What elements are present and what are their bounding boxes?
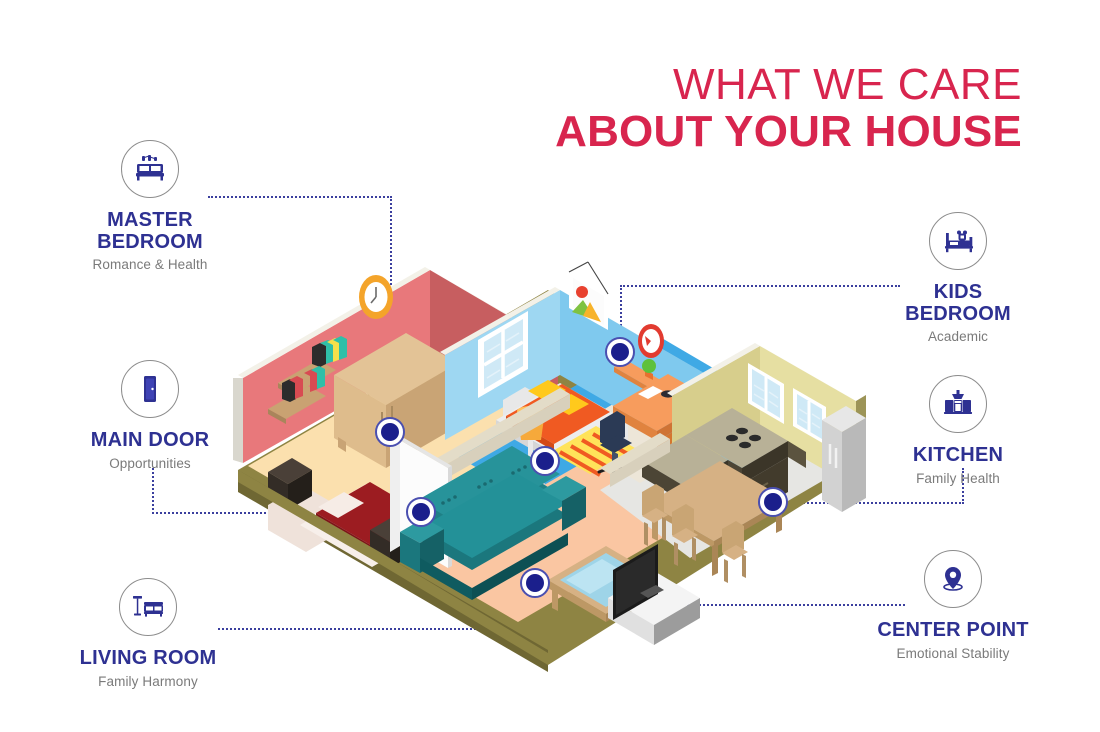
marker-master-bedroom[interactable] [375,417,405,447]
callout-subtitle: Family Harmony [28,674,268,689]
marker-dot [536,452,554,470]
callout-kitchen[interactable]: KITCHEN Family Health [838,375,1078,486]
callout-living-room[interactable]: LIVING ROOM Family Harmony [28,578,268,689]
marker-dot [611,343,629,361]
callout-kids-bedroom[interactable]: KIDS BEDROOM Academic [838,212,1078,344]
marker-kids-bedroom[interactable] [605,337,635,367]
main-door-frame [390,436,400,552]
stove-hood-icon [941,387,975,421]
kids-bed-teddy-icon [940,224,976,258]
callout-master-bedroom[interactable]: MASTER BEDROOM Romance & Health [30,140,270,272]
callout-subtitle: Emotional Stability [833,646,1073,661]
callout-title: KITCHEN [838,445,1078,467]
coffee-table-leg-1 [552,586,558,611]
dining-table-leg-2 [712,543,718,576]
callout-title: CENTER POINT [833,620,1073,642]
callout-subtitle: Romance & Health [30,257,270,272]
kids-bedroom-badge [929,212,987,270]
callout-title: MASTER BEDROOM [30,210,270,253]
callout-subtitle: Family Health [838,471,1078,486]
plant-leaf-kids [642,359,656,373]
callout-center-point[interactable]: CENTER POINT Emotional Stability [833,550,1073,661]
kitchen-badge [929,375,987,433]
living-room-badge [119,578,177,636]
callout-subtitle: Opportunities [30,456,270,471]
callout-title: MAIN DOOR [30,430,270,452]
marker-dot [764,493,782,511]
callout-title: LIVING ROOM [28,648,268,670]
marker-center-point[interactable] [530,446,560,476]
master-bedroom-badge [121,140,179,198]
double-bed-icon [133,152,167,186]
center-point-badge [924,550,982,608]
callout-main-door[interactable]: MAIN DOOR Opportunities [30,360,270,471]
door-icon [133,372,167,406]
marker-main-door[interactable] [406,497,436,527]
map-pin-icon [936,562,970,596]
infographic-canvas: WHAT WE CARE ABOUT YOUR HOUSE [0,0,1100,732]
main-door-badge [121,360,179,418]
callout-title: KIDS BEDROOM [838,282,1078,325]
marker-living-room[interactable] [520,568,550,598]
marker-dot [381,423,399,441]
marker-dot [412,503,430,521]
sofa-lamp-icon [130,590,166,624]
marker-dot [526,574,544,592]
marker-kitchen[interactable] [758,487,788,517]
callout-subtitle: Academic [838,329,1078,344]
